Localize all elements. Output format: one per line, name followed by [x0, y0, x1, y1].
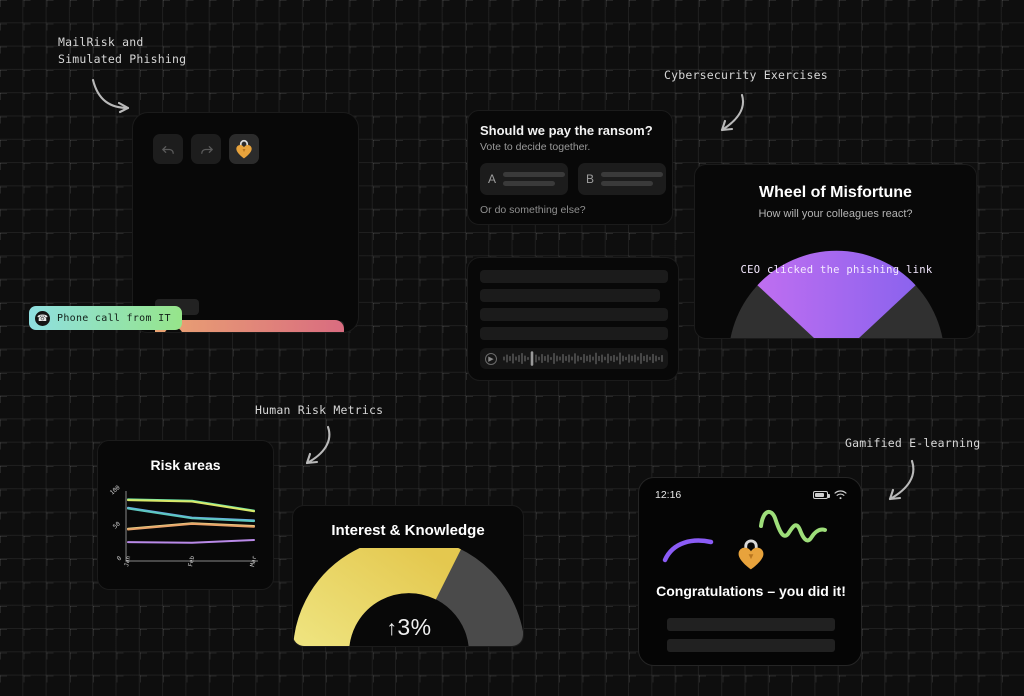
arrow-to-phone-card	[878, 458, 922, 504]
ransom-poll-card[interactable]: Should we pay the ransom? Vote to decide…	[467, 110, 673, 225]
confirmed-dangerous-badge[interactable]: ✓ Confirmed as dangerous	[155, 320, 344, 333]
call-skeleton-row-4	[480, 327, 668, 340]
skeleton-line	[601, 172, 663, 177]
phone-icon: ☎	[35, 311, 50, 326]
arrow-up-icon: ↑	[386, 617, 397, 640]
mailrisk-card[interactable]: ✓ Confirmed as dangerous	[132, 112, 359, 333]
vote-option-b-letter: B	[586, 172, 594, 186]
wheel-graphic[interactable]	[695, 231, 977, 339]
risk-areas-chart: 100 50 0 Jan Feb Mar	[98, 479, 274, 589]
wheel-title: Wheel of Misfortune	[695, 184, 976, 202]
arrow-to-risk-card	[296, 424, 338, 468]
phone-skeleton-row-1	[667, 618, 835, 631]
gauge-value-text: 3%	[397, 614, 431, 640]
undo-icon	[161, 142, 176, 157]
elearning-phone-card[interactable]: 12:16 Congratulations – you did it!	[638, 477, 862, 666]
canvas: MailRisk and Simulated Phishing Cybersec…	[0, 0, 1024, 696]
y-tick-100: 100	[109, 484, 122, 497]
vote-option-b-placeholder	[601, 172, 663, 186]
x-tick-jan: Jan	[123, 555, 132, 567]
audio-waveform[interactable]	[501, 351, 666, 366]
confetti-green-icon	[757, 508, 829, 556]
confetti-purple-icon	[661, 536, 716, 564]
report-mail-button[interactable]	[229, 134, 259, 164]
phone-call-card[interactable]: ▶	[467, 257, 679, 381]
phone-clock: 12:16	[655, 489, 681, 501]
congratulations-headline: Congratulations – you did it!	[639, 583, 862, 599]
wheel-subtitle: How will your colleagues react?	[695, 208, 976, 220]
mascot-padlock-icon	[735, 538, 767, 572]
risk-areas-title: Risk areas	[98, 457, 273, 473]
audio-player[interactable]: ▶	[480, 348, 668, 369]
ransom-footer[interactable]: Or do something else?	[480, 204, 672, 216]
phone-call-label: Phone call from IT	[57, 313, 171, 324]
annotation-cybersecurity: Cybersecurity Exercises	[664, 67, 828, 84]
play-icon[interactable]: ▶	[485, 353, 497, 365]
phone-call-badge[interactable]: ☎ Phone call from IT	[29, 306, 182, 330]
vote-option-a[interactable]: A	[480, 163, 568, 195]
gauge-title: Interest & Knowledge	[293, 522, 523, 539]
series-2-line	[128, 500, 254, 511]
vote-option-a-letter: A	[488, 172, 496, 186]
arrow-to-mail-card	[88, 76, 138, 116]
gauge-value: ↑3%	[293, 614, 524, 641]
wheel-result-label: CEO clicked the phishing link	[695, 263, 977, 278]
x-tick-mar: Mar	[249, 555, 258, 567]
ransom-title: Should we pay the ransom?	[480, 123, 672, 138]
y-tick-0: 0	[116, 555, 124, 563]
series-7-line	[128, 540, 254, 543]
annotation-gamified-elearning: Gamified E-learning	[845, 435, 980, 452]
interest-knowledge-card[interactable]: Interest & Knowledge ↑3%	[292, 505, 524, 647]
skeleton-line	[601, 181, 653, 186]
arrow-to-wheel-card	[710, 92, 752, 136]
call-skeleton-row-1	[480, 270, 668, 283]
mail-toolbar	[153, 134, 259, 164]
phone-skeleton-row-2	[667, 639, 835, 652]
ransom-subtitle: Vote to decide together.	[480, 141, 672, 153]
vote-option-a-placeholder	[503, 172, 565, 186]
mascot-padlock-icon	[234, 139, 254, 160]
battery-icon	[813, 491, 828, 499]
ransom-options: A B	[480, 163, 672, 195]
x-tick-feb: Feb	[187, 555, 196, 567]
vote-option-b[interactable]: B	[578, 163, 666, 195]
y-tick-50: 50	[112, 520, 122, 530]
call-skeleton-row-3	[480, 308, 668, 321]
skeleton-line	[503, 172, 565, 177]
wheel-of-misfortune-card[interactable]: Wheel of Misfortune How will your collea…	[694, 164, 977, 339]
skeleton-line	[503, 181, 555, 186]
risk-areas-card[interactable]: Risk areas 100 50 0 Jan Feb Mar	[97, 440, 274, 590]
annotation-mailrisk: MailRisk and Simulated Phishing	[58, 34, 186, 67]
redo-button[interactable]	[191, 134, 221, 164]
phone-status-bar: 12:16	[639, 488, 862, 502]
call-skeleton-row-2	[480, 289, 660, 302]
undo-button[interactable]	[153, 134, 183, 164]
annotation-human-risk-metrics: Human Risk Metrics	[255, 402, 383, 419]
redo-icon	[199, 142, 214, 157]
phone-status-icons	[813, 490, 847, 500]
wheel-svg	[695, 231, 977, 339]
confirmed-dangerous-label: Confirmed as dangerous	[192, 331, 338, 334]
wifi-icon	[834, 490, 847, 500]
